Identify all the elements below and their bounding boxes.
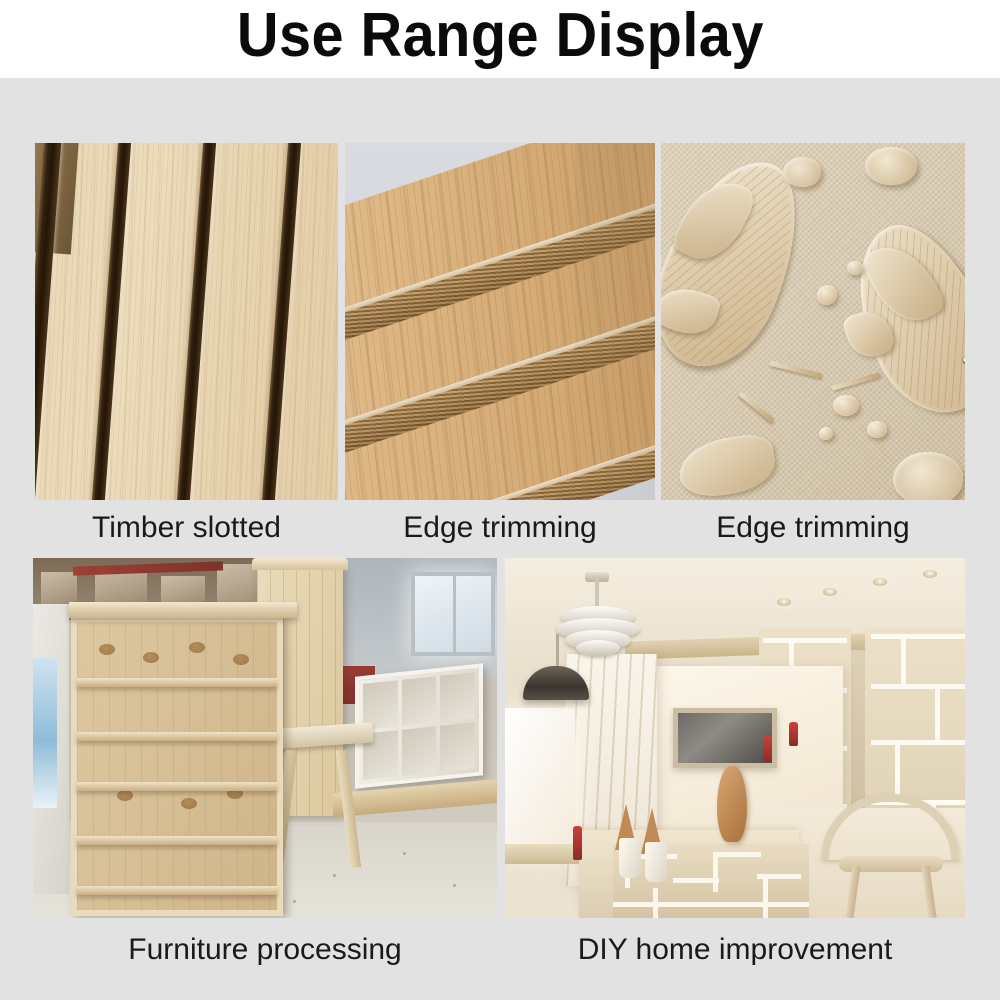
gallery-item-timber-slotted[interactable]: Timber slotted	[35, 143, 338, 500]
pendant-chandelier	[557, 576, 639, 646]
red-bottle	[763, 736, 772, 762]
carved-koi-relief-image	[661, 143, 965, 500]
slotted-timber-board-image	[35, 143, 338, 500]
bubble	[867, 421, 887, 438]
gallery-item-edge-trimming-relief[interactable]: Edge trimming	[661, 143, 965, 500]
page-header: Use Range Display	[0, 0, 1000, 78]
gallery-item-diy-home-improvement[interactable]: DIY home improvement	[505, 558, 965, 918]
gallery-area: Timber slotted Edge trimming	[0, 78, 1000, 1000]
bubble	[817, 285, 837, 305]
lotus-leaf	[893, 452, 963, 500]
workshop-window	[411, 572, 495, 656]
gallery-item-caption: DIY home improvement	[505, 933, 965, 967]
ceiling-downlight	[873, 578, 887, 586]
stacked-wood-panels-image	[345, 143, 655, 500]
counter-fretwork-front	[613, 844, 809, 918]
wall-mounted-tv	[673, 708, 777, 768]
window-daylight	[505, 708, 575, 858]
page-title: Use Range Display	[236, 5, 763, 73]
gallery-item-caption: Edge trimming	[661, 511, 965, 545]
furniture-workshop-image	[33, 558, 497, 918]
panel-shadow	[575, 143, 655, 500]
beige-interior-room-image	[505, 558, 965, 918]
bubble	[847, 261, 863, 275]
ceiling-downlight	[823, 588, 837, 596]
ceiling-downlight	[923, 570, 937, 578]
cube-shelving-unit	[355, 663, 483, 788]
gallery-item-caption: Edge trimming	[345, 511, 655, 545]
gallery-item-caption: Timber slotted	[35, 511, 338, 545]
dining-chair	[821, 794, 959, 918]
wooden-vase	[717, 766, 747, 842]
bubble	[833, 395, 859, 416]
ceiling-downlight	[777, 598, 791, 606]
lotus-leaf	[783, 157, 821, 187]
white-cup	[645, 842, 667, 882]
gallery-item-edge-trimming-panels[interactable]: Edge trimming	[345, 143, 655, 500]
gallery-item-furniture-processing[interactable]: Furniture processing	[33, 558, 497, 918]
lotus-leaf	[865, 147, 917, 185]
product-info-page: Use Range Display Timber slotted	[0, 0, 1000, 1000]
bubble	[819, 427, 833, 440]
red-bottle	[573, 826, 582, 860]
gallery-item-caption: Furniture processing	[33, 933, 497, 967]
pine-bookshelf	[71, 616, 283, 916]
blue-poster	[33, 658, 57, 808]
white-cup	[619, 838, 641, 878]
red-bottle	[789, 722, 798, 746]
